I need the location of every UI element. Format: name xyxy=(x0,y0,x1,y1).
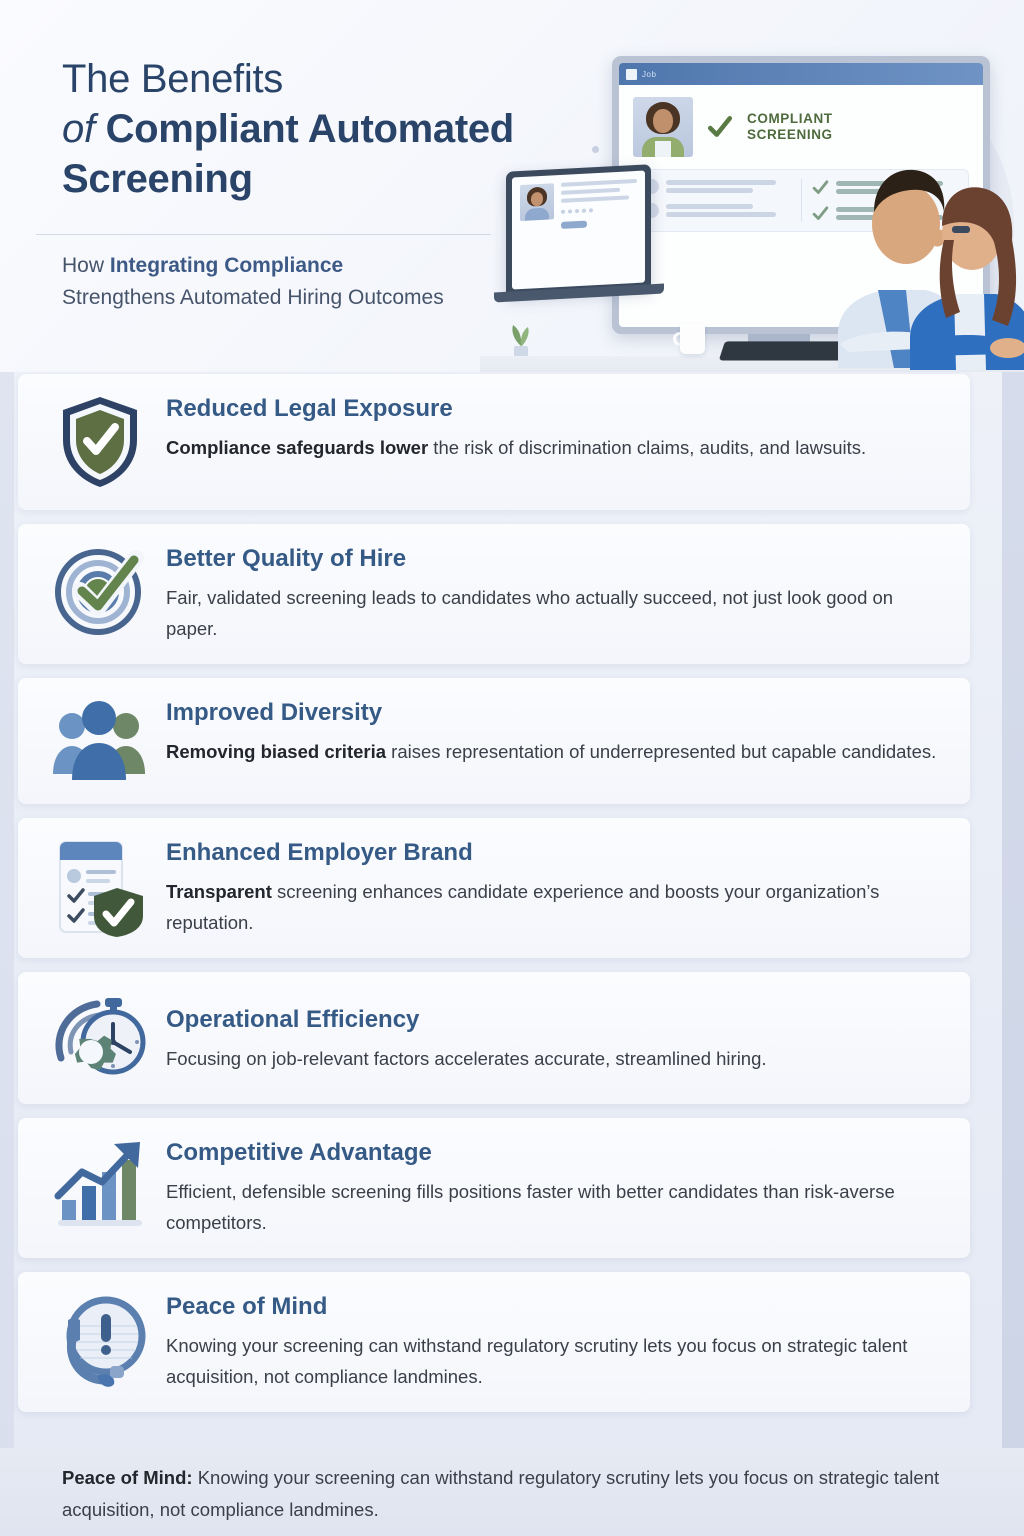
laptop xyxy=(506,164,651,296)
placeholder-line xyxy=(561,195,629,203)
result-item xyxy=(644,203,791,218)
rating-dot xyxy=(582,209,586,213)
footer-body: Knowing your screening can withstand reg… xyxy=(62,1467,939,1520)
card-title: Operational Efficiency xyxy=(166,1005,946,1035)
card-title: Reduced Legal Exposure xyxy=(166,394,946,424)
candidate-photo xyxy=(633,97,693,157)
photo-shirt xyxy=(655,141,671,157)
clipboard-shield-icon xyxy=(54,838,146,938)
benefit-card-reduced-legal-exposure[interactable]: Reduced Legal Exposure Compliance safegu… xyxy=(18,374,970,510)
title-italic-of: of xyxy=(62,107,106,151)
card-icon-slot xyxy=(52,392,148,490)
card-description: Transparent screening enhances candidate… xyxy=(166,876,946,938)
coffee-mug xyxy=(680,324,705,354)
shield-check-icon xyxy=(58,394,142,490)
decor-dot xyxy=(592,146,599,153)
footer-summary: Peace of Mind: Knowing your screening ca… xyxy=(62,1462,962,1526)
bar-chart-growth-icon xyxy=(52,1138,148,1230)
check-icon xyxy=(707,114,733,140)
subtitle-strong: Integrating Compliance xyxy=(110,254,343,277)
placeholder-line xyxy=(561,179,637,187)
hero-illustration: Job xyxy=(480,0,1024,372)
card-icon-slot xyxy=(52,1290,148,1388)
result-lines xyxy=(666,180,791,193)
card-desc-rest: the risk of discrimination claims, audit… xyxy=(428,437,866,458)
placeholder-line xyxy=(666,188,753,193)
person-female xyxy=(900,160,1024,370)
result-item xyxy=(644,179,791,194)
laptop-action-button xyxy=(561,221,587,229)
infographic-page: The Benefits of Compliant Automated Scre… xyxy=(0,0,1024,1536)
card-description: Efficient, defensible screening fills po… xyxy=(166,1176,946,1238)
card-icon-slot xyxy=(52,836,148,938)
card-icon-slot xyxy=(52,696,148,784)
card-text: Competitive Advantage Efficient, defensi… xyxy=(148,1136,946,1238)
benefit-card-improved-diversity[interactable]: Improved Diversity Removing biased crite… xyxy=(18,678,970,804)
card-description: Knowing your screening can withstand reg… xyxy=(166,1330,946,1392)
benefit-card-competitive-advantage[interactable]: Competitive Advantage Efficient, defensi… xyxy=(18,1118,970,1258)
card-desc-rest: Efficient, defensible screening fills po… xyxy=(166,1181,895,1233)
rating-dots xyxy=(561,206,637,214)
benefit-card-operational-efficiency[interactable]: Operational Efficiency Focusing on job-r… xyxy=(18,972,970,1104)
footer-label: Peace of Mind: xyxy=(62,1467,193,1488)
stopwatch-gear-icon xyxy=(53,994,147,1082)
card-description: Removing biased criteria raises represen… xyxy=(166,736,946,767)
card-icon-slot xyxy=(52,994,148,1082)
card-text: Improved Diversity Removing biased crite… xyxy=(148,696,946,767)
rating-dot xyxy=(568,209,572,213)
people-group-icon xyxy=(52,698,148,784)
card-icon-slot xyxy=(52,542,148,636)
photo-body xyxy=(525,208,549,221)
card-desc-rest: Fair, validated screening leads to candi… xyxy=(166,587,893,639)
card-desc-rest: Knowing your screening can withstand reg… xyxy=(166,1335,907,1387)
card-text: Better Quality of Hire Fair, validated s… xyxy=(148,542,946,644)
benefits-list: Reduced Legal Exposure Compliance safegu… xyxy=(18,374,970,1426)
card-desc-rest: raises representation of underrepresente… xyxy=(386,741,936,762)
card-desc-rest: screening enhances candidate experience … xyxy=(166,881,879,933)
card-icon-slot xyxy=(52,1136,148,1230)
placeholder-line xyxy=(666,180,776,185)
headset-alert-icon xyxy=(54,1292,146,1388)
card-text: Enhanced Employer Brand Transparent scre… xyxy=(148,836,946,938)
window-title-bar: Job xyxy=(619,63,983,85)
plant-icon xyxy=(504,316,538,358)
rating-dot xyxy=(575,209,579,213)
header: The Benefits of Compliant Automated Scre… xyxy=(0,0,1024,372)
title-line-1: The Benefits xyxy=(62,57,283,101)
card-title: Peace of Mind xyxy=(166,1292,946,1322)
rating-dot xyxy=(561,210,565,214)
result-lines xyxy=(666,204,791,217)
title-line-3: Screening xyxy=(62,157,253,201)
benefit-card-better-quality-of-hire[interactable]: Better Quality of Hire Fair, validated s… xyxy=(18,524,970,664)
card-title: Enhanced Employer Brand xyxy=(166,838,946,868)
card-description: Compliance safeguards lower the risk of … xyxy=(166,432,946,463)
card-desc-bold: Compliance safeguards lower xyxy=(166,437,428,458)
card-description: Fair, validated screening leads to candi… xyxy=(166,582,946,644)
placeholder-line xyxy=(666,212,776,217)
photo-face xyxy=(653,109,673,133)
card-title: Better Quality of Hire xyxy=(166,544,946,574)
card-desc-bold: Transparent xyxy=(166,881,272,902)
footer: Peace of Mind: Knowing your screening ca… xyxy=(0,1448,1024,1536)
card-text: Operational Efficiency Focusing on job-r… xyxy=(148,1003,946,1074)
right-band xyxy=(1002,348,1024,1536)
subtitle-line-2: Strengthens Automated Hiring Outcomes xyxy=(62,286,444,309)
card-text: Peace of Mind Knowing your screening can… xyxy=(148,1290,946,1392)
laptop-candidate-photo xyxy=(520,183,554,221)
title-line-2: Compliant Automated xyxy=(106,107,514,151)
left-band xyxy=(0,348,14,1536)
card-text: Reduced Legal Exposure Compliance safegu… xyxy=(148,392,946,463)
placeholder-line xyxy=(561,188,620,195)
screen-label-line-1: COMPLIANT xyxy=(747,111,833,126)
card-desc-bold: Removing biased criteria xyxy=(166,741,386,762)
laptop-lines xyxy=(561,179,637,279)
card-desc-rest: Focusing on job-relevant factors acceler… xyxy=(166,1048,767,1069)
results-column-left xyxy=(644,179,791,222)
placeholder-line xyxy=(666,204,753,209)
rating-dot xyxy=(589,208,593,212)
title-divider xyxy=(36,234,491,235)
laptop-screen xyxy=(512,171,645,290)
benefit-card-peace-of-mind[interactable]: Peace of Mind Knowing your screening can… xyxy=(18,1272,970,1412)
window-icon xyxy=(626,69,637,80)
benefit-card-enhanced-employer-brand[interactable]: Enhanced Employer Brand Transparent scre… xyxy=(18,818,970,958)
card-title: Improved Diversity xyxy=(166,698,946,728)
subtitle-prefix: How xyxy=(62,254,110,277)
window-tab-label: Job xyxy=(642,70,656,79)
card-description: Focusing on job-relevant factors acceler… xyxy=(166,1043,946,1074)
card-title: Competitive Advantage xyxy=(166,1138,946,1168)
target-check-icon xyxy=(54,544,146,636)
